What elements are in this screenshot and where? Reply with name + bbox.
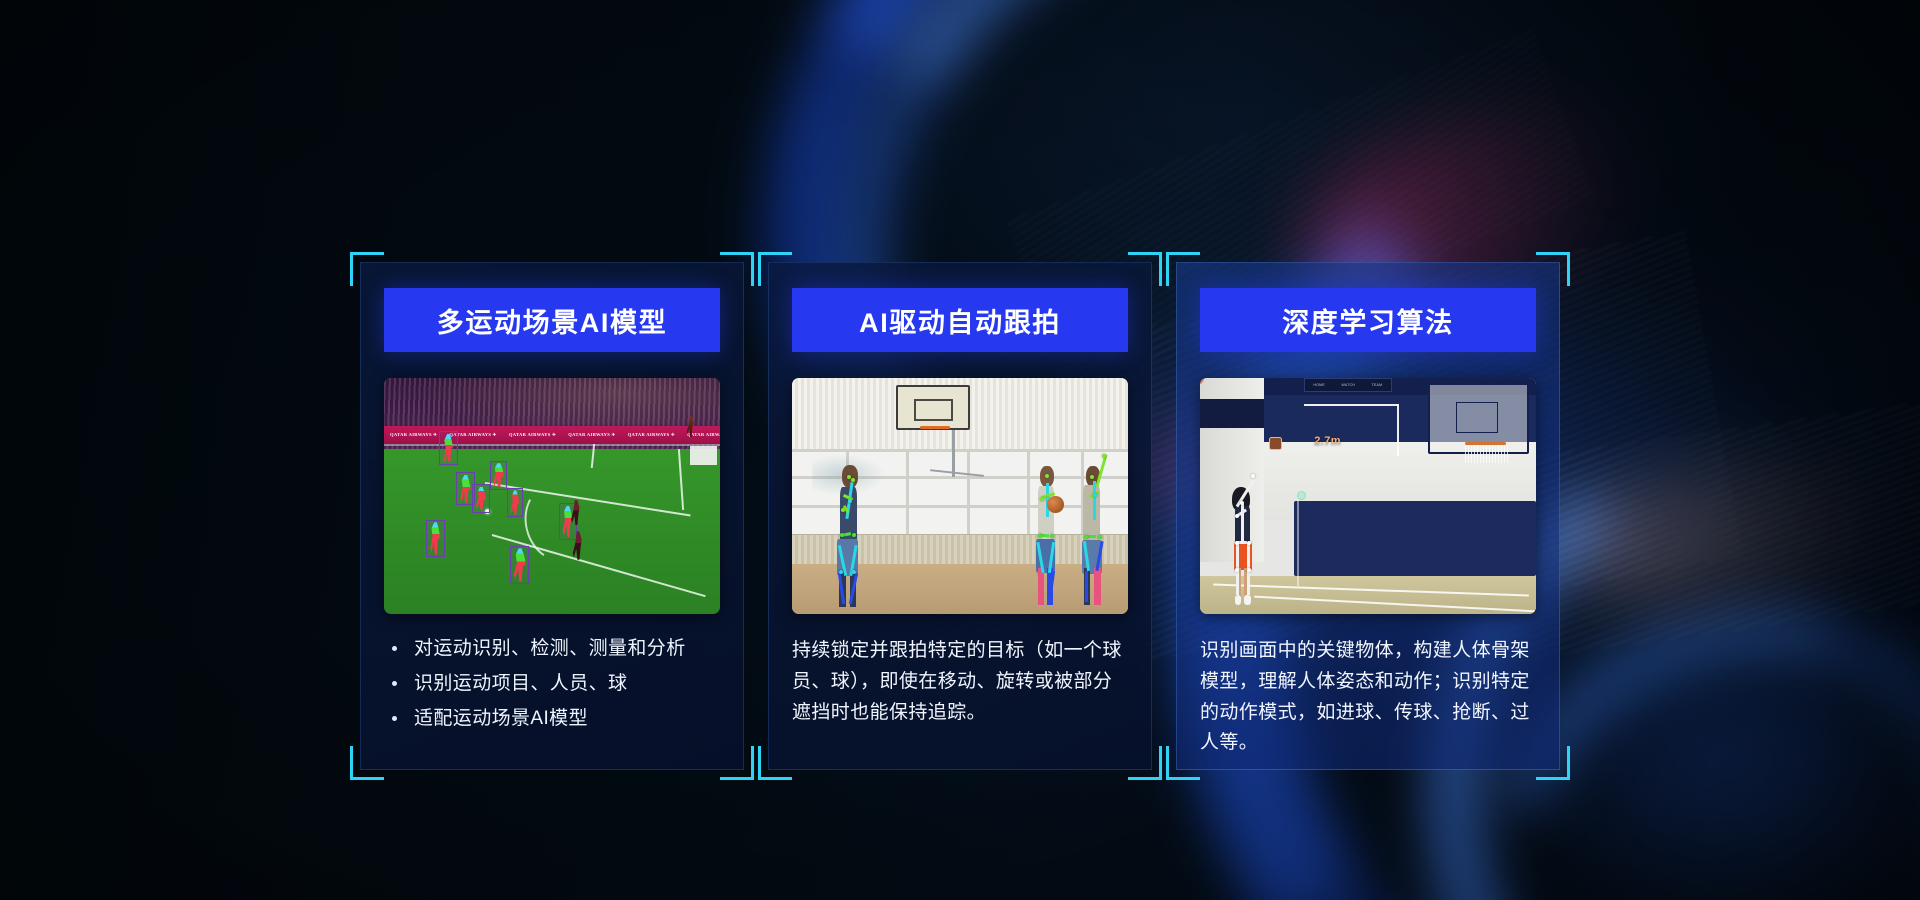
detection-box: [472, 484, 489, 512]
hoop-rim: [920, 426, 950, 429]
ball-tracking-box: [1269, 437, 1282, 450]
tracked-person-pose: [1224, 482, 1268, 605]
feature-card-multi-sport-ai-model[interactable]: 多运动场景AI模型 QATAR AIRWAYS ✈QATAR AIRWAYS ✈…: [360, 262, 744, 770]
tracked-person-pose: [1027, 463, 1071, 605]
list-item: 适配运动场景AI模型: [384, 706, 720, 733]
scoreboard: HOMEWATCHTEAM: [1304, 378, 1391, 392]
annotation-line-horizontal: [1304, 404, 1398, 406]
feature-card-row: 多运动场景AI模型 QATAR AIRWAYS ✈QATAR AIRWAYS ✈…: [360, 262, 1560, 770]
card-title: 深度学习算法: [1282, 301, 1454, 340]
feature-description: 识别画面中的关键物体，构建人体骨架模型，理解人体姿态和动作；识别特定的动作模式，…: [1200, 636, 1536, 759]
advertising-banner: QATAR AIRWAYS ✈QATAR AIRWAYS ✈QATAR AIRW…: [384, 426, 720, 444]
shot-tracking-annotation-screenshot: HOMEWATCHTEAM 2.7m: [1200, 378, 1536, 614]
card-title-banner: 多运动场景AI模型: [384, 288, 720, 352]
tracked-person-pose: [1074, 454, 1118, 605]
card-title-banner: 深度学习算法: [1200, 288, 1536, 352]
feature-card-deep-learning-algorithm[interactable]: 深度学习算法 HOMEWATCHTEAM: [1176, 262, 1560, 770]
feature-card-ai-auto-tracking[interactable]: AI驱动自动跟拍: [768, 262, 1152, 770]
card-title: 多运动场景AI模型: [437, 301, 667, 340]
hoop-net: [1465, 446, 1509, 463]
indoor-gym-pose-estimation-screenshot: [792, 378, 1128, 614]
feature-description: 持续锁定并跟拍特定的目标（如一个球员、球），即使在移动、旋转或被部分遮挡时也能保…: [792, 636, 1128, 728]
court-left-wall-band: [1200, 399, 1264, 427]
card-body: 对运动识别、检测、测量和分析 识别运动项目、人员、球 适配运动场景AI模型: [384, 636, 720, 770]
feature-bullet-list: 对运动识别、检测、测量和分析 识别运动项目、人员、球 适配运动场景AI模型: [384, 636, 720, 733]
card-body: 识别画面中的关键物体，构建人体骨架模型，理解人体姿态和动作；识别特定的动作模式，…: [1200, 636, 1536, 770]
detection-box: [426, 520, 445, 558]
tracked-person-pose: [829, 465, 876, 607]
list-item: 识别运动项目、人员、球: [384, 671, 720, 698]
pitch-side-board: [690, 446, 717, 465]
annotation-line-vertical: [1397, 404, 1399, 456]
detection-box: [510, 546, 529, 585]
soccer-pitch-detection-screenshot: QATAR AIRWAYS ✈QATAR AIRWAYS ✈QATAR AIRW…: [384, 378, 720, 614]
card-title-banner: AI驱动自动跟拍: [792, 288, 1128, 352]
detection-box: [490, 461, 507, 491]
card-body: 持续锁定并跟拍特定的目标（如一个球员、球），即使在移动、旋转或被部分遮挡时也能保…: [792, 636, 1128, 770]
pitch-line-far: [384, 444, 720, 446]
hoop-pole: [952, 430, 955, 477]
annotation-line-drop: [1297, 501, 1299, 586]
list-item: 对运动识别、检测、测量和分析: [384, 636, 720, 663]
basketball: [1047, 496, 1064, 513]
backboard: [896, 385, 970, 430]
detection-box: [439, 431, 457, 465]
court-wall-padding: [1294, 501, 1536, 577]
hoop-rim: [1465, 442, 1505, 445]
card-title: AI驱动自动跟拍: [859, 301, 1061, 340]
distance-label: 2.7m: [1314, 435, 1341, 447]
detection-box: [507, 488, 524, 518]
